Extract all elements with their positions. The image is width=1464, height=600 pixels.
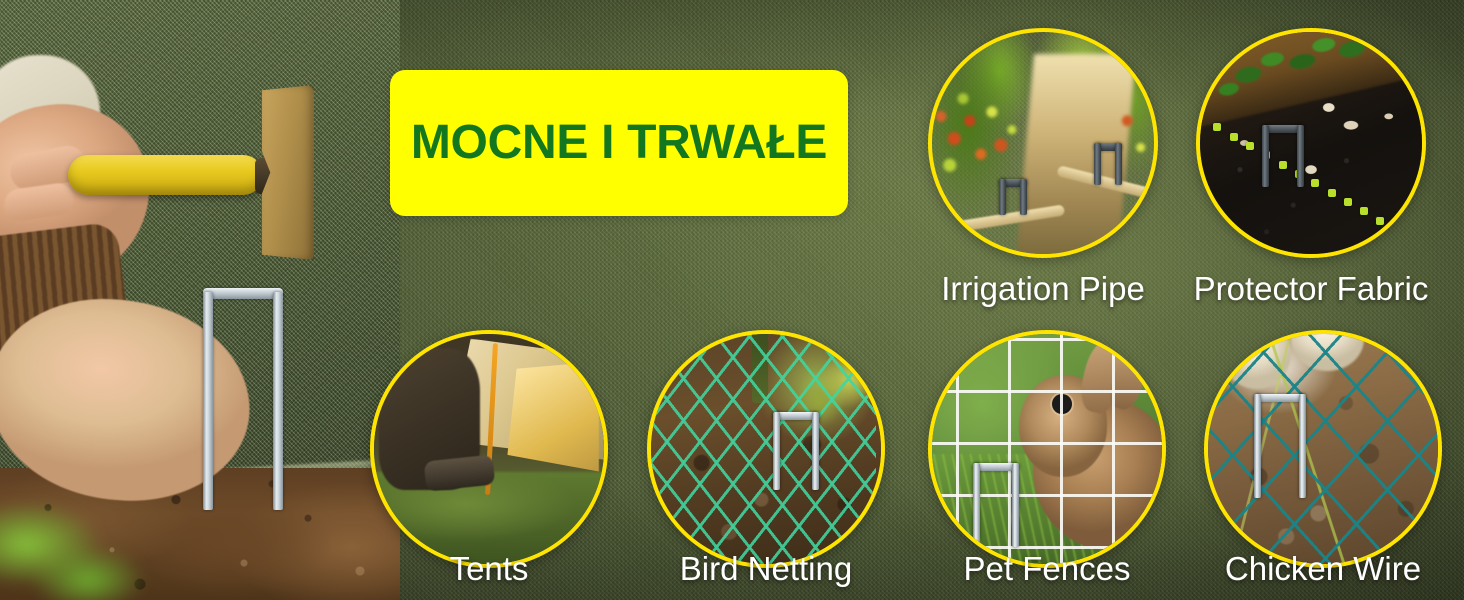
hero-staple-leg-right: [273, 292, 283, 510]
feature-circle-bird-netting[interactable]: [647, 330, 885, 568]
hero-staple-crown: [203, 288, 283, 299]
photo-staple: [1262, 125, 1304, 187]
product-feature-banner: MOCNE I TRWAŁE Irrigation Pipe: [0, 0, 1464, 600]
photo-irrigation-pipe: [932, 32, 1154, 254]
feature-circle-protector-fabric[interactable]: [1196, 28, 1426, 258]
photo-protector-fabric: [1200, 32, 1422, 254]
feature-circle-chicken-wire[interactable]: [1204, 330, 1442, 568]
feature-circle-tents[interactable]: [370, 330, 608, 568]
photo-staple: [973, 463, 1019, 547]
feature-label-bird-netting: Bird Netting: [680, 552, 852, 585]
feature-label-protector-fabric: Protector Fabric: [1194, 272, 1429, 305]
photo-green-dotted-line: [1213, 121, 1426, 254]
headline-badge: MOCNE I TRWAŁE: [390, 70, 848, 216]
photo-bird-netting: [651, 334, 881, 564]
hero-staple-leg-left: [203, 292, 213, 510]
feature-label-tents: Tents: [450, 552, 529, 585]
feature-pet-fences[interactable]: Pet Fences: [928, 330, 1166, 568]
photo-wire-grid: [1204, 330, 1442, 568]
photo-staple: [1254, 394, 1306, 498]
photo-staple: [999, 179, 1027, 215]
hero-photo: [0, 0, 400, 600]
feature-chicken-wire[interactable]: Chicken Wire: [1204, 330, 1442, 568]
feature-circle-irrigation-pipe[interactable]: [928, 28, 1158, 258]
feature-irrigation-pipe[interactable]: Irrigation Pipe: [928, 28, 1158, 258]
photo-tents: [374, 334, 604, 564]
hero-foreground-plant: [0, 500, 160, 600]
feature-label-irrigation-pipe: Irrigation Pipe: [941, 272, 1145, 305]
photo-chicken-wire: [1208, 334, 1438, 564]
photo-tent-panel: [507, 362, 599, 482]
feature-circle-pet-fences[interactable]: [928, 330, 1166, 568]
photo-staple: [773, 412, 819, 490]
photo-green-netting: [647, 330, 876, 568]
feature-label-chicken-wire: Chicken Wire: [1225, 552, 1421, 585]
photo-pet-fences: [932, 334, 1162, 564]
photo-staple: [1094, 143, 1122, 185]
feature-label-pet-fences: Pet Fences: [964, 552, 1131, 585]
headline-text: MOCNE I TRWAŁE: [411, 119, 827, 167]
photo-wire-mesh-fence: [928, 330, 1166, 568]
feature-protector-fabric[interactable]: Protector Fabric: [1196, 28, 1426, 258]
feature-bird-netting[interactable]: Bird Netting: [647, 330, 885, 568]
feature-tents[interactable]: Tents: [370, 330, 608, 568]
hammer-handle: [68, 155, 263, 195]
